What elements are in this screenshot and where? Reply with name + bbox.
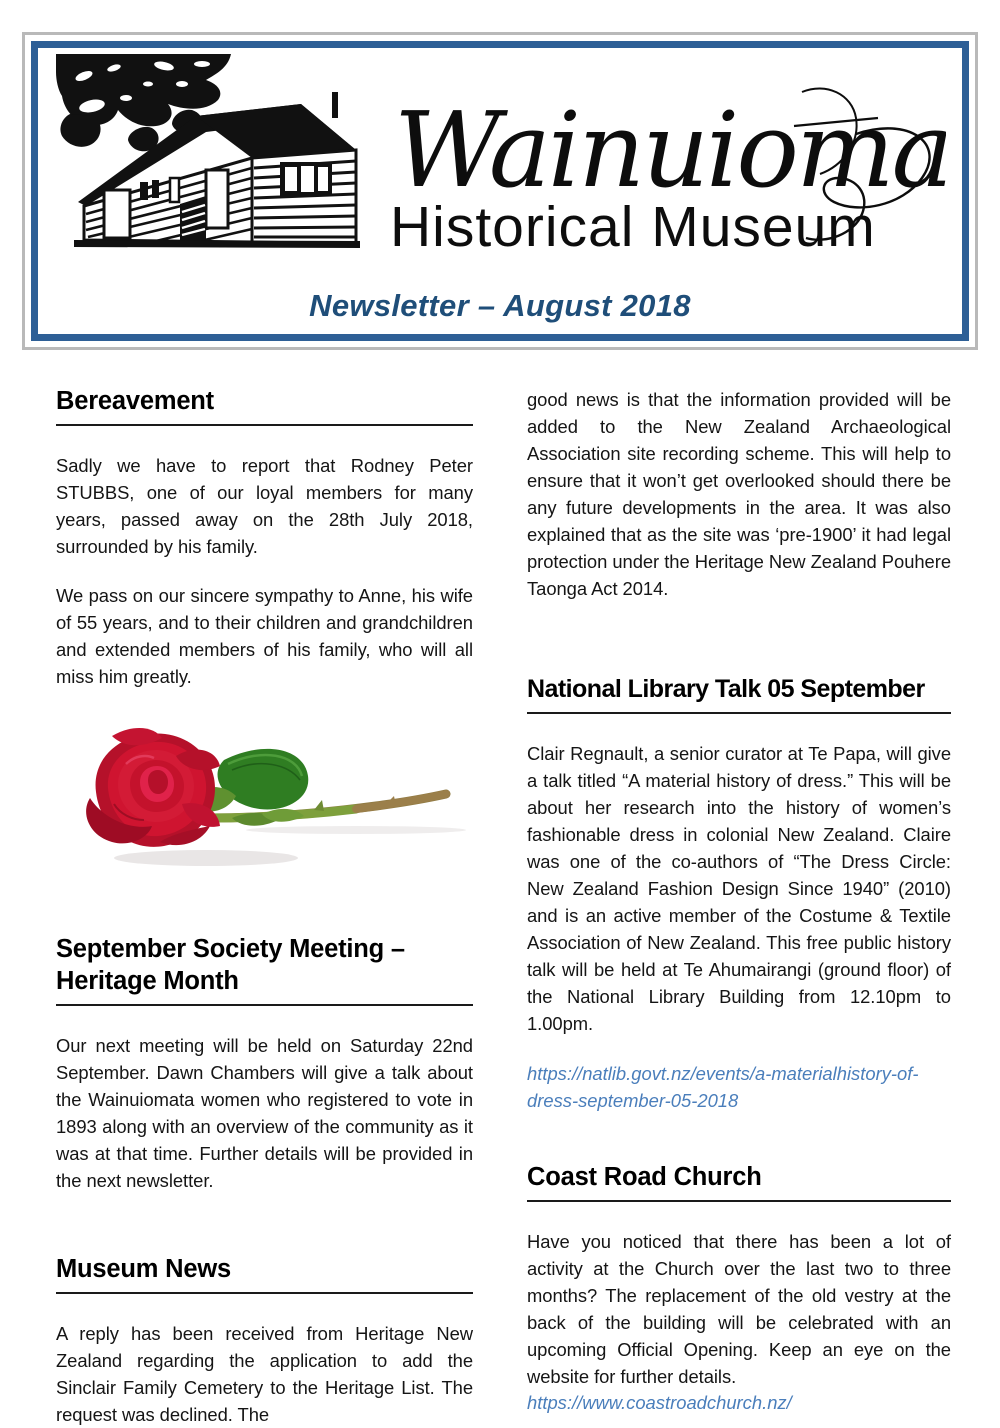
section-coast-road-church: Coast Road Church Have you noticed that … xyxy=(527,1162,951,1417)
coast-road-church-paragraph-1: Have you noticed that there has been a l… xyxy=(527,1228,951,1390)
coast-road-church-link[interactable]: https://www.coastroadchurch.nz/ xyxy=(527,1390,951,1416)
newsletter-title: Newsletter – August 2018 xyxy=(38,288,962,324)
museum-news-heading: Museum News xyxy=(56,1254,473,1294)
september-meeting-heading: September Society Meeting – Heritage Mon… xyxy=(56,934,473,1005)
coast-road-church-heading: Coast Road Church xyxy=(527,1162,951,1202)
right-column: good news is that the information provid… xyxy=(527,386,951,1416)
wordmark-museum-text: Historical Museum xyxy=(390,195,876,259)
museum-news-paragraph-1: A reply has been received from Heritage … xyxy=(56,1320,473,1428)
museum-news-continuation-paragraph: good news is that the information provid… xyxy=(527,386,951,602)
section-bereavement: Bereavement Sadly we have to report that… xyxy=(56,386,473,878)
masthead-blue-frame: Wainuiomata Historical Museum Newsletter… xyxy=(31,41,969,341)
national-library-talk-paragraph-1: Clair Regnault, a senior curator at Te P… xyxy=(527,740,951,1038)
masthead-white-frame: Wainuiomata Historical Museum Newsletter… xyxy=(28,38,972,344)
bereavement-paragraph-1: Sadly we have to report that Rodney Pete… xyxy=(56,452,473,560)
bereavement-heading: Bereavement xyxy=(56,386,473,426)
museum-wordmark: Wainuiomata Historical Museum xyxy=(386,74,946,264)
bereavement-paragraph-2: We pass on our sincere sympathy to Anne,… xyxy=(56,582,473,690)
masthead-banner: Wainuiomata Historical Museum Newsletter… xyxy=(22,32,978,350)
section-september-meeting: September Society Meeting – Heritage Mon… xyxy=(56,934,473,1194)
section-museum-news-continued: good news is that the information provid… xyxy=(527,386,951,602)
september-meeting-paragraph-1: Our next meeting will be held on Saturda… xyxy=(56,1032,473,1194)
national-library-talk-heading: National Library Talk 05 September xyxy=(527,674,951,714)
museum-cottage-logo-icon xyxy=(56,54,376,269)
national-library-talk-link[interactable]: https://natlib.govt.nz/events/a-material… xyxy=(527,1061,951,1113)
section-national-library-talk: National Library Talk 05 September Clair… xyxy=(527,674,951,1113)
left-column: Bereavement Sadly we have to report that… xyxy=(56,386,473,1428)
red-rose-image xyxy=(56,718,473,878)
section-museum-news: Museum News A reply has been received fr… xyxy=(56,1254,473,1428)
